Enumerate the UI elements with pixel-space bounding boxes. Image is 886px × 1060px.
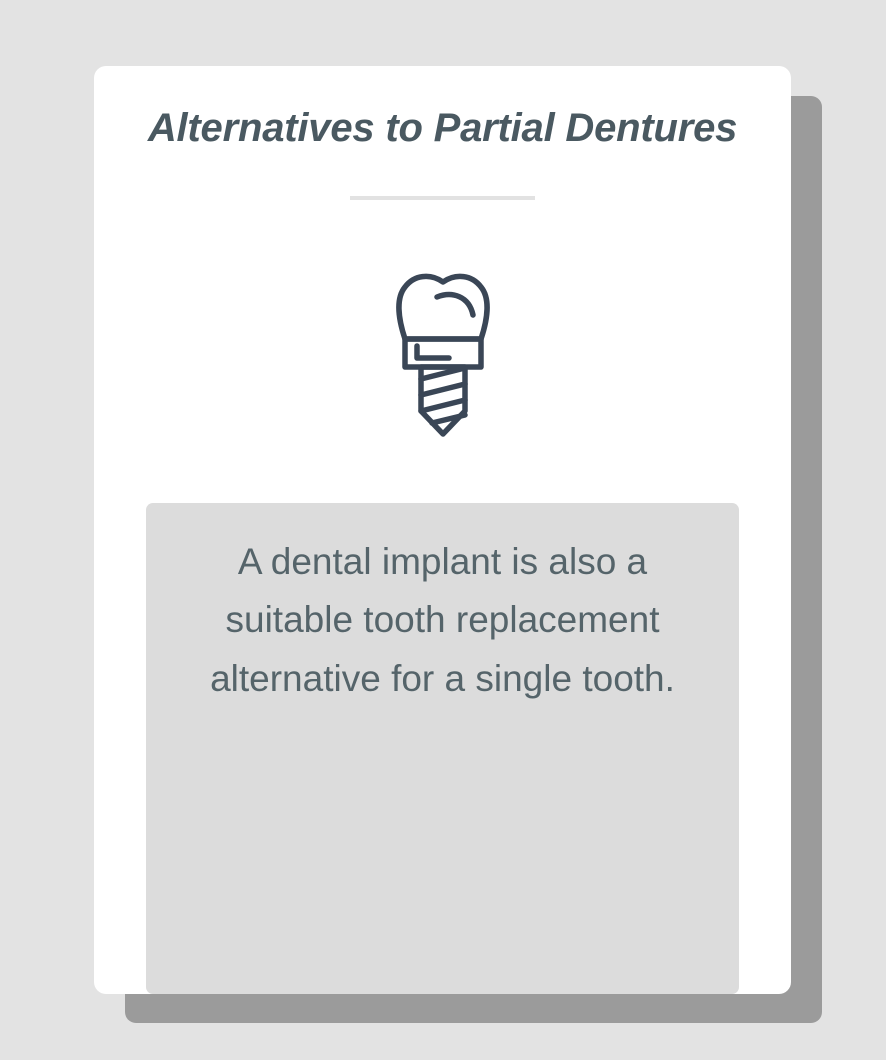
screw-thread-2 xyxy=(421,384,465,395)
content-body-text: A dental implant is also a suitable toot… xyxy=(182,533,703,708)
content-panel: A dental implant is also a suitable toot… xyxy=(146,503,739,994)
slide-stage: Alternatives to Partial Dentures xyxy=(0,0,886,1060)
title-divider xyxy=(350,196,535,200)
tooth-crown-highlight xyxy=(437,295,473,315)
abutment-inner-mark xyxy=(417,346,449,358)
screw-thread-3 xyxy=(421,400,465,411)
screw-thread-4 xyxy=(432,415,465,423)
content-card: Alternatives to Partial Dentures xyxy=(94,66,791,994)
page-title: Alternatives to Partial Dentures xyxy=(94,106,791,150)
tooth-crown-shape xyxy=(398,276,486,339)
dental-implant-icon xyxy=(390,266,496,442)
icon-container xyxy=(94,266,791,442)
